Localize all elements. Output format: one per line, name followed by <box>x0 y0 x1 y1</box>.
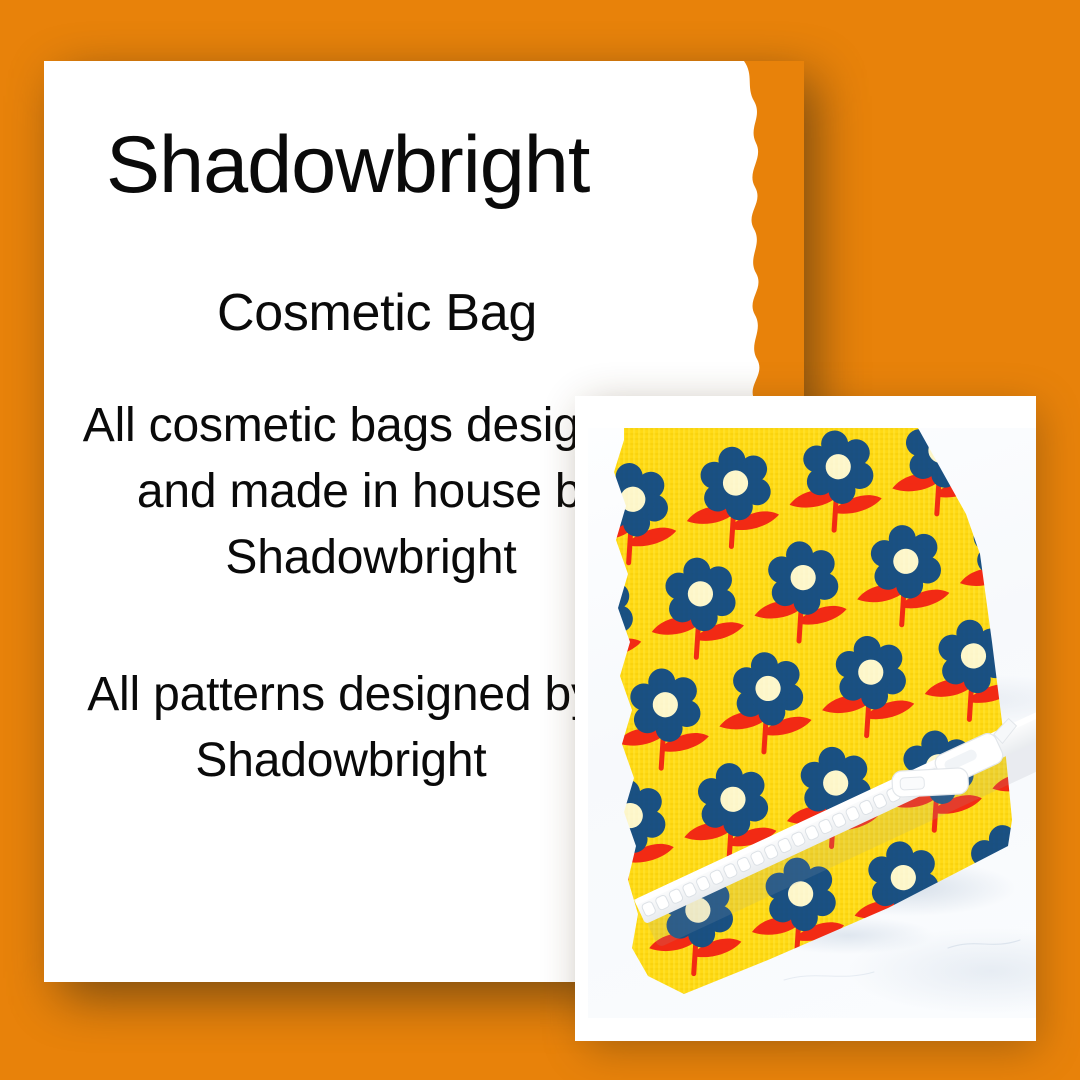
page-title: Shadowbright <box>52 123 589 209</box>
product-photo-panel <box>575 396 1036 1041</box>
zipper-icon <box>588 428 1036 1018</box>
product-subtitle: Cosmetic Bag <box>217 283 537 343</box>
body-text-patterns: All patterns designed by Shadowbright <box>61 662 621 794</box>
poster-canvas: Shadowbright Cosmetic Bag All cosmetic b… <box>0 0 1080 1080</box>
product-photo <box>588 428 1036 1018</box>
